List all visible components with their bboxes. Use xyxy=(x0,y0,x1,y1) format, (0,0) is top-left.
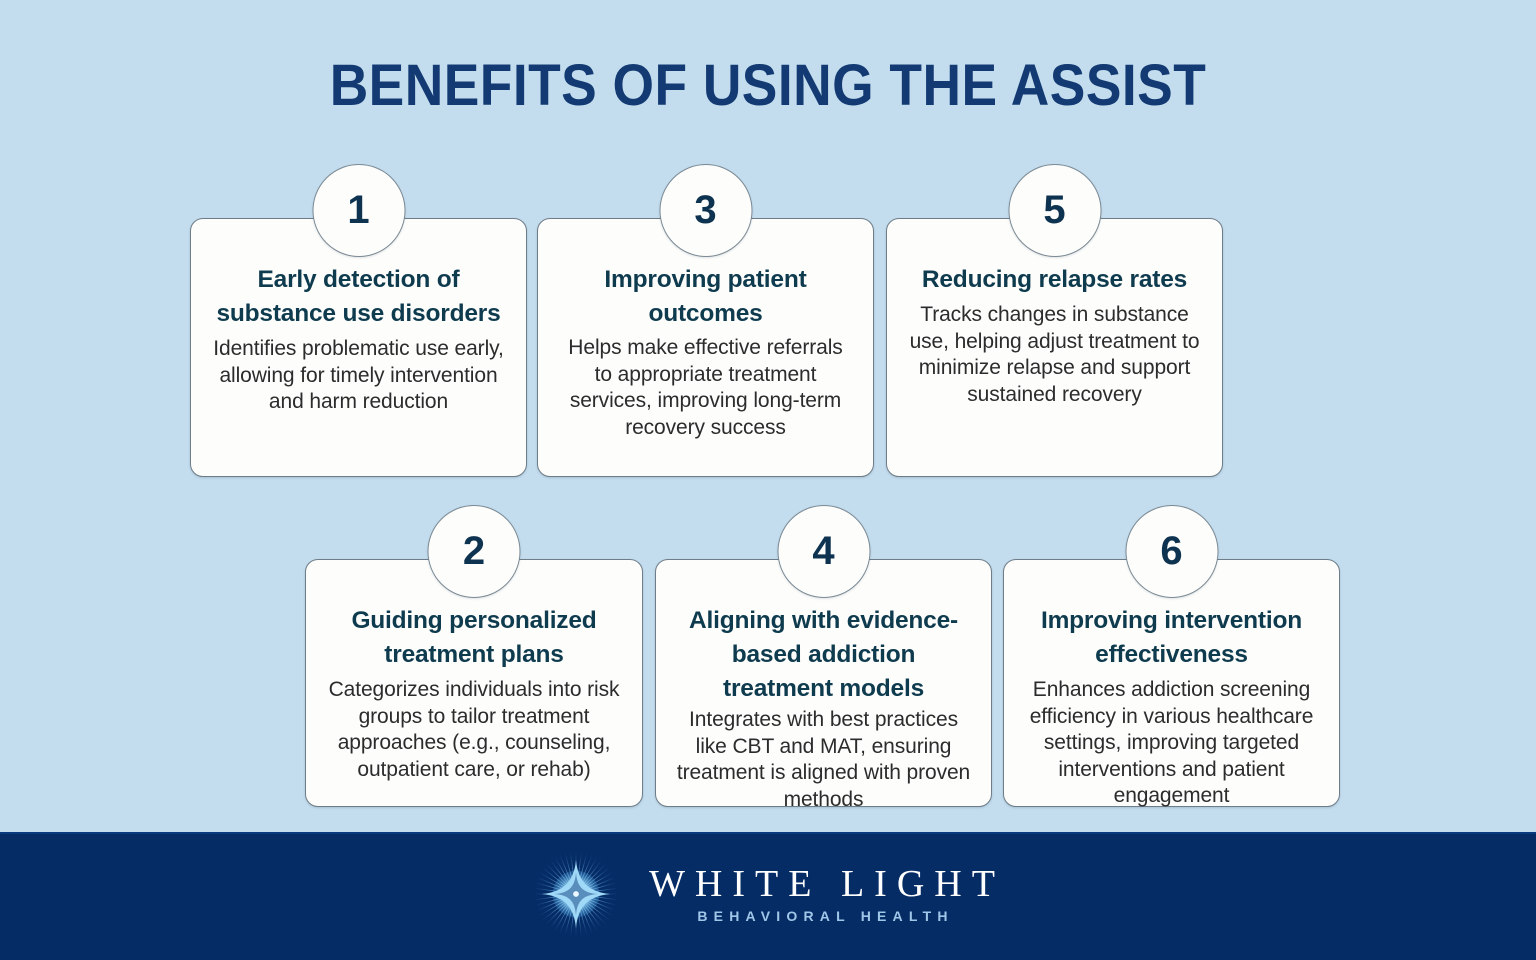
benefit-number-badge-4: 4 xyxy=(777,505,870,598)
benefit-card-6[interactable]: 6 Improving intervention effectiveness E… xyxy=(1003,559,1340,807)
benefit-number-4: 4 xyxy=(812,529,834,574)
benefit-description-6: Enhances addiction screening efficiency … xyxy=(1024,677,1319,810)
benefit-title-3: Improving patient outcomes xyxy=(558,263,853,331)
brand-logo: WHITE LIGHT BEHAVIORAL HEALTH xyxy=(531,849,1005,939)
benefit-card-1[interactable]: 1 Early detection of substance use disor… xyxy=(190,218,527,477)
benefit-number-badge-6: 6 xyxy=(1125,505,1218,598)
benefit-description-5: Tracks changes in substance use, helping… xyxy=(907,302,1202,408)
benefit-description-3: Helps make effective referrals to approp… xyxy=(558,335,853,441)
brand-name: WHITE LIGHT xyxy=(639,864,1005,904)
footer-top-divider xyxy=(0,832,1536,834)
benefit-number-2: 2 xyxy=(463,529,485,574)
brand-wordmark: WHITE LIGHT BEHAVIORAL HEALTH xyxy=(639,864,1005,924)
benefit-number-badge-2: 2 xyxy=(428,505,521,598)
benefit-card-5[interactable]: 5 Reducing relapse rates Tracks changes … xyxy=(886,218,1223,477)
benefit-title-6: Improving intervention effectiveness xyxy=(1024,604,1319,672)
benefit-title-2: Guiding personalized treatment plans xyxy=(326,604,622,672)
starburst-logo-icon xyxy=(531,849,621,939)
benefits-board: 1 Early detection of substance use disor… xyxy=(0,0,1536,830)
benefit-number-badge-5: 5 xyxy=(1008,164,1101,257)
benefit-title-1: Early detection of substance use disorde… xyxy=(211,263,506,331)
benefit-card-3[interactable]: 3 Improving patient outcomes Helps make … xyxy=(537,218,874,477)
benefit-number-1: 1 xyxy=(347,188,369,233)
benefit-card-2[interactable]: 2 Guiding personalized treatment plans C… xyxy=(305,559,643,807)
benefit-description-2: Categorizes individuals into risk groups… xyxy=(326,677,622,783)
benefit-title-4: Aligning with evidence-based addiction t… xyxy=(676,604,971,706)
benefit-number-5: 5 xyxy=(1043,188,1065,233)
benefit-number-badge-3: 3 xyxy=(659,164,752,257)
benefit-number-badge-1: 1 xyxy=(312,164,405,257)
benefit-title-5: Reducing relapse rates xyxy=(907,263,1202,297)
benefit-number-3: 3 xyxy=(694,188,716,233)
benefit-description-1: Identifies problematic use early, allowi… xyxy=(211,336,506,416)
brand-tagline: BEHAVIORAL HEALTH xyxy=(690,908,953,924)
benefit-description-4: Integrates with best practices like CBT … xyxy=(676,707,971,813)
footer-bar: WHITE LIGHT BEHAVIORAL HEALTH xyxy=(0,832,1536,960)
benefit-card-4[interactable]: 4 Aligning with evidence-based addiction… xyxy=(655,559,992,807)
benefit-number-6: 6 xyxy=(1160,529,1182,574)
